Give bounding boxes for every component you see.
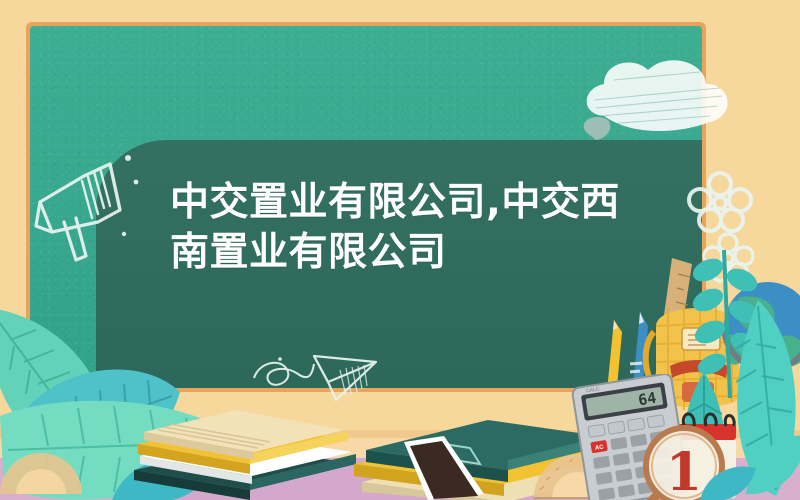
leaf-decoration bbox=[698, 462, 758, 500]
magnifier-number: 1 bbox=[666, 442, 702, 500]
cloud-icon bbox=[570, 50, 740, 160]
book-stack-left bbox=[130, 404, 360, 500]
calculator-display-value: 64 bbox=[637, 389, 658, 410]
book-tilted bbox=[398, 436, 518, 500]
paper-plane-icon bbox=[250, 352, 380, 404]
megaphone-icon bbox=[24, 148, 144, 278]
flower-icon bbox=[684, 168, 756, 236]
banner-image: 中交置业有限公司,中交西南置业有限公司 bbox=[0, 0, 800, 500]
protractor-icon bbox=[0, 440, 86, 498]
page-title: 中交置业有限公司,中交西南置业有限公司 bbox=[170, 178, 640, 278]
